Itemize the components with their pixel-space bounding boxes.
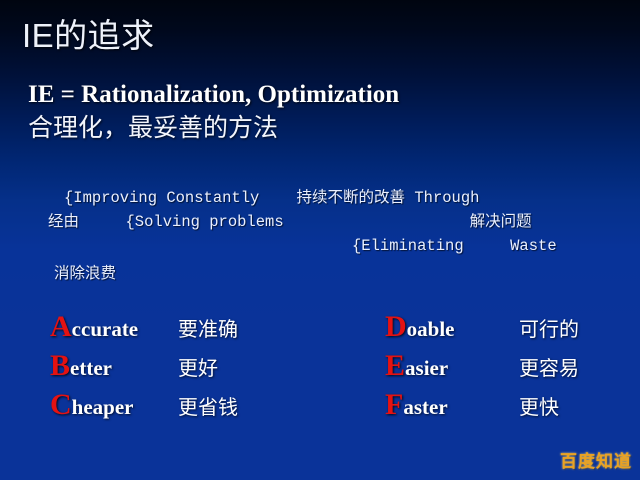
slide-title: IE的追求 <box>22 16 155 56</box>
detail-line-improving: {Improving Constantly 持续不断的改善 Through <box>64 188 479 208</box>
abc-column-left: Accurate 要准确 Better 更好 Cheaper 更省钱 <box>50 310 238 427</box>
abc-row-faster: Faster 更快 <box>385 388 579 427</box>
abc-row-easier: Easier 更容易 <box>385 349 579 388</box>
abc-term-cheaper: Cheaper <box>50 388 174 422</box>
heading-block: IE = Rationalization, Optimization 合理化，最… <box>28 79 618 145</box>
dropcap-f: F <box>385 388 403 421</box>
dropcap-d: D <box>385 310 407 343</box>
detail-block: {Improving Constantly 持续不断的改善 Through 经由… <box>0 186 640 302</box>
detail-line-waste-chinese: 消除浪费 <box>54 264 116 284</box>
abc-term-rest-cheaper: heaper <box>72 395 134 419</box>
abc-term-doable: Doable <box>385 310 513 344</box>
abc-term-rest-better: etter <box>70 356 112 380</box>
abc-row-accurate: Accurate 要准确 <box>50 310 238 349</box>
abc-term-rest-faster: aster <box>403 395 447 419</box>
abc-column-right: Doable 可行的 Easier 更容易 Faster 更快 <box>385 310 579 427</box>
detail-line-solving: 经由 {Solving problems 解决问题 <box>48 212 532 232</box>
abc-row-better: Better 更好 <box>50 349 238 388</box>
abc-term-rest-accurate: ccurate <box>72 317 138 341</box>
abc-row-doable: Doable 可行的 <box>385 310 579 349</box>
dropcap-e: E <box>385 349 405 382</box>
abc-term-rest-doable: oable <box>407 317 455 341</box>
abc-gloss-faster: 更快 <box>513 391 559 420</box>
dropcap-a: A <box>50 310 72 343</box>
heading-chinese: 合理化，最妥善的方法 <box>28 112 618 145</box>
abc-row-cheaper: Cheaper 更省钱 <box>50 388 238 427</box>
abc-gloss-doable: 可行的 <box>513 313 579 342</box>
presentation-slide: IE的追求 IE = Rationalization, Optimization… <box>0 0 640 480</box>
watermark-baidu-zhidao: 百度知道 <box>560 447 632 472</box>
abc-def-area: Accurate 要准确 Better 更好 Cheaper 更省钱 Doabl… <box>0 310 640 440</box>
abc-gloss-easier: 更容易 <box>513 352 579 381</box>
dropcap-c: C <box>50 388 72 421</box>
abc-term-easier: Easier <box>385 349 513 383</box>
abc-term-accurate: Accurate <box>50 310 174 344</box>
heading-english: IE = Rationalization, Optimization <box>28 79 618 110</box>
abc-term-better: Better <box>50 349 174 383</box>
abc-gloss-better: 更好 <box>174 352 218 381</box>
abc-gloss-accurate: 要准确 <box>174 313 238 342</box>
detail-line-eliminating: {Eliminating Waste <box>352 236 557 256</box>
abc-gloss-cheaper: 更省钱 <box>174 391 238 420</box>
abc-term-faster: Faster <box>385 388 513 422</box>
abc-term-rest-easier: asier <box>405 356 448 380</box>
dropcap-b: B <box>50 349 70 382</box>
